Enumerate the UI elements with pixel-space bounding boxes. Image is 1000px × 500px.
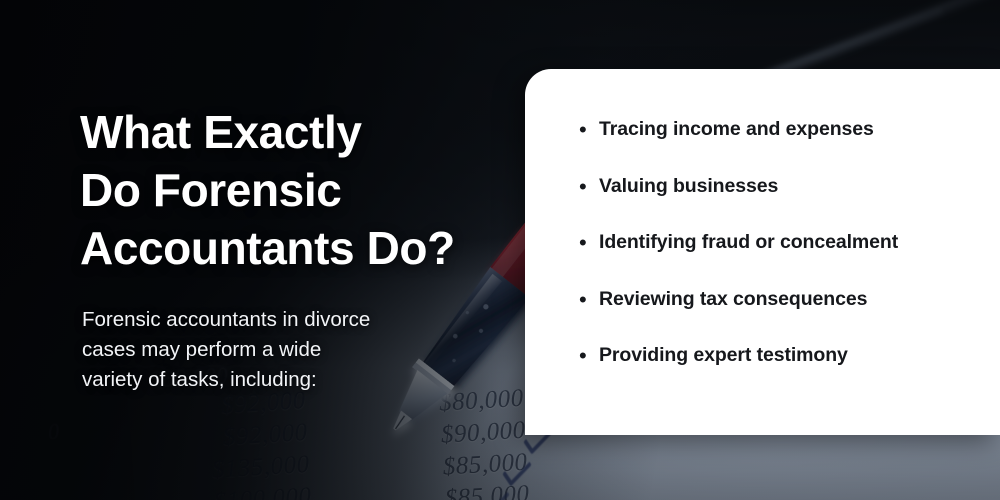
bullet-dot-icon: •: [579, 118, 599, 141]
list-item: • Valuing businesses: [579, 175, 898, 232]
list-item-label: Providing expert testimony: [599, 344, 848, 367]
task-list: • Tracing income and expenses • Valuing …: [579, 118, 898, 401]
page-title-line: What Exactly: [80, 103, 500, 161]
list-item-label: Tracing income and expenses: [599, 118, 874, 141]
list-item-label: Valuing businesses: [599, 175, 778, 198]
list-item-label: Reviewing tax consequences: [599, 288, 867, 311]
list-item: • Reviewing tax consequences: [579, 288, 898, 345]
page-subtitle-line: cases may perform a wide: [82, 335, 432, 365]
list-item: • Identifying fraud or concealment: [579, 231, 898, 288]
page-title: What Exactly Do Forensic Accountants Do?: [80, 103, 500, 277]
bullet-card: • Tracing income and expenses • Valuing …: [525, 69, 1000, 435]
page-subtitle-line: Forensic accountants in divorce: [82, 305, 432, 335]
list-item: • Tracing income and expenses: [579, 118, 898, 175]
list-item-label: Identifying fraud or concealment: [599, 231, 898, 254]
bullet-dot-icon: •: [579, 175, 599, 198]
bullet-dot-icon: •: [579, 231, 599, 254]
page-subtitle-line: variety of tasks, including:: [82, 365, 432, 395]
page-title-line: Do Forensic: [80, 161, 500, 219]
page-subtitle: Forensic accountants in divorce cases ma…: [82, 305, 432, 395]
infographic-canvas: $88,000 0 $92,000 $92,000 $135,000 $100,…: [0, 0, 1000, 500]
page-title-line: Accountants Do?: [80, 219, 500, 277]
bullet-dot-icon: •: [579, 288, 599, 311]
bullet-dot-icon: •: [579, 344, 599, 367]
list-item: • Providing expert testimony: [579, 344, 898, 401]
